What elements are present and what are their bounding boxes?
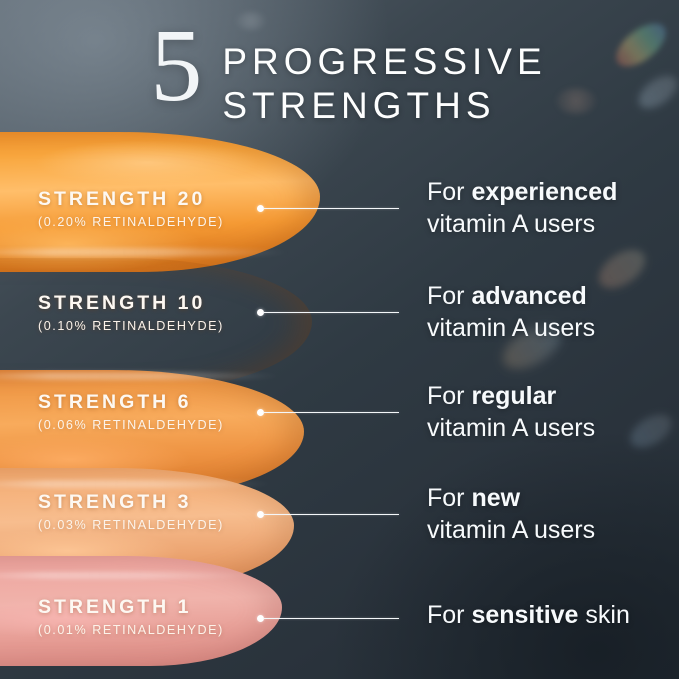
description-strength-10: For advanced vitamin A users [427,281,595,344]
connector-rule [263,312,399,313]
description-line-1: For sensitive skin [427,600,630,632]
desc-keyword: new [471,484,520,512]
connector-rule [263,208,399,209]
strength-concentration: (0.03% RETINALDEHYDE) [38,518,224,532]
desc-prefix: For [427,382,471,410]
swatch-label-strength-10: STRENGTH 10 (0.10% RETINALDEHYDE) [38,292,224,333]
swatch-label-strength-1: STRENGTH 1 (0.01% RETINALDEHYDE) [38,596,224,637]
desc-keyword: sensitive [471,601,578,629]
desc-suffix: skin [578,601,629,629]
swatch-label-strength-6: STRENGTH 6 (0.06% RETINALDEHYDE) [38,391,224,432]
infographic-canvas: 5 PROGRESSIVE STRENGTHS STRENGTH 20 (0.2… [0,0,679,679]
strength-title: STRENGTH 3 [38,491,224,514]
description-strength-1: For sensitive skin [427,600,630,632]
description-strength-3: For new vitamin A users [427,483,595,546]
description-line-1: For regular [427,381,595,413]
swatch-label-strength-20: STRENGTH 20 (0.20% RETINALDEHYDE) [38,188,224,229]
strength-title: STRENGTH 1 [38,596,224,619]
description-strength-20: For experienced vitamin A users [427,177,617,240]
strength-title: STRENGTH 20 [38,188,224,211]
swatch-gloss-highlight [0,372,282,380]
desc-prefix: For [427,178,471,206]
connector-rule [263,412,399,413]
description-line-2: vitamin A users [427,413,595,445]
desc-prefix: For [427,484,471,512]
description-line-1: For experienced [427,177,617,209]
description-line-1: For advanced [427,281,595,313]
description-line-2: vitamin A users [427,209,617,241]
strength-title: STRENGTH 6 [38,391,224,414]
description-strength-6: For regular vitamin A users [427,381,595,444]
desc-keyword: regular [471,382,556,410]
description-line-1: For new [427,483,595,515]
desc-prefix: For [427,282,471,310]
strength-concentration: (0.06% RETINALDEHYDE) [38,418,224,432]
strength-concentration: (0.20% RETINALDEHYDE) [38,215,224,229]
description-line-2: vitamin A users [427,515,595,547]
connector-rule [263,618,399,619]
strength-title: STRENGTH 10 [38,292,224,315]
desc-prefix: For [427,601,471,629]
strength-concentration: (0.01% RETINALDEHYDE) [38,623,224,637]
description-line-2: vitamin A users [427,313,595,345]
connector-rule [263,514,399,515]
swatch-label-strength-3: STRENGTH 3 (0.03% RETINALDEHYDE) [38,491,224,532]
strength-concentration: (0.10% RETINALDEHYDE) [38,319,224,333]
desc-keyword: advanced [471,282,586,310]
desc-keyword: experienced [471,178,617,206]
